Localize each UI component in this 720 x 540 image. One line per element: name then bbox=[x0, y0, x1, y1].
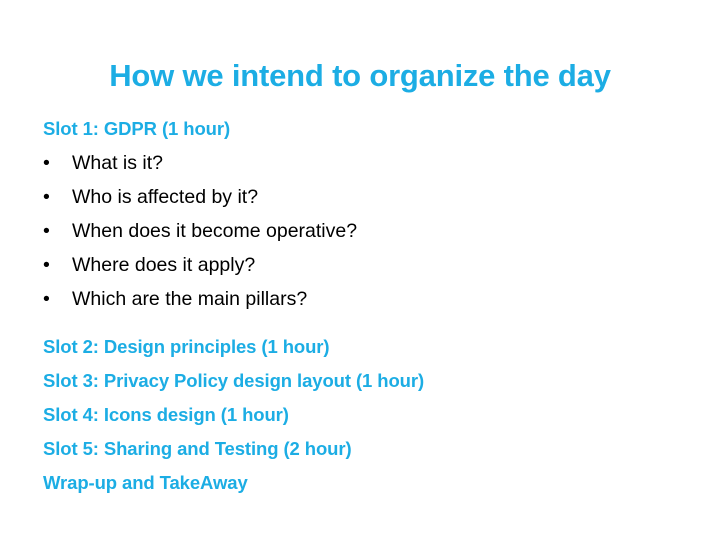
slot-1-heading: Slot 1: GDPR (1 hour) bbox=[43, 112, 683, 146]
slide-canvas: How we intend to organize the day Slot 1… bbox=[0, 0, 720, 540]
slot-2-heading: Slot 2: Design principles (1 hour) bbox=[43, 330, 683, 364]
slot-4-heading: Slot 4: Icons design (1 hour) bbox=[43, 398, 683, 432]
slot-5-heading: Slot 5: Sharing and Testing (2 hour) bbox=[43, 432, 683, 466]
bullet-icon: • bbox=[43, 248, 50, 282]
page-title: How we intend to organize the day bbox=[0, 57, 720, 95]
list-item-label: Where does it apply? bbox=[72, 254, 255, 276]
list-item-label: Which are the main pillars? bbox=[72, 288, 307, 310]
slide-body: Slot 1: GDPR (1 hour) • What is it? • Wh… bbox=[43, 112, 683, 500]
slot-3-heading: Slot 3: Privacy Policy design layout (1 … bbox=[43, 364, 683, 398]
list-item-label: Who is affected by it? bbox=[72, 186, 258, 208]
bullet-icon: • bbox=[43, 282, 50, 316]
bullet-icon: • bbox=[43, 180, 50, 214]
slot-1-bullet-list: • What is it? • Who is affected by it? •… bbox=[43, 146, 683, 316]
list-item: • What is it? bbox=[43, 146, 683, 180]
list-item: • Which are the main pillars? bbox=[43, 282, 683, 316]
wrap-up-heading: Wrap-up and TakeAway bbox=[43, 466, 683, 500]
list-item: • When does it become operative? bbox=[43, 214, 683, 248]
bullet-icon: • bbox=[43, 146, 50, 180]
list-item: • Where does it apply? bbox=[43, 248, 683, 282]
bullet-icon: • bbox=[43, 214, 50, 248]
list-item: • Who is affected by it? bbox=[43, 180, 683, 214]
list-item-label: What is it? bbox=[72, 152, 163, 174]
remaining-slots-list: Slot 2: Design principles (1 hour) Slot … bbox=[43, 330, 683, 500]
list-item-label: When does it become operative? bbox=[72, 220, 357, 242]
section-spacer bbox=[43, 316, 683, 330]
